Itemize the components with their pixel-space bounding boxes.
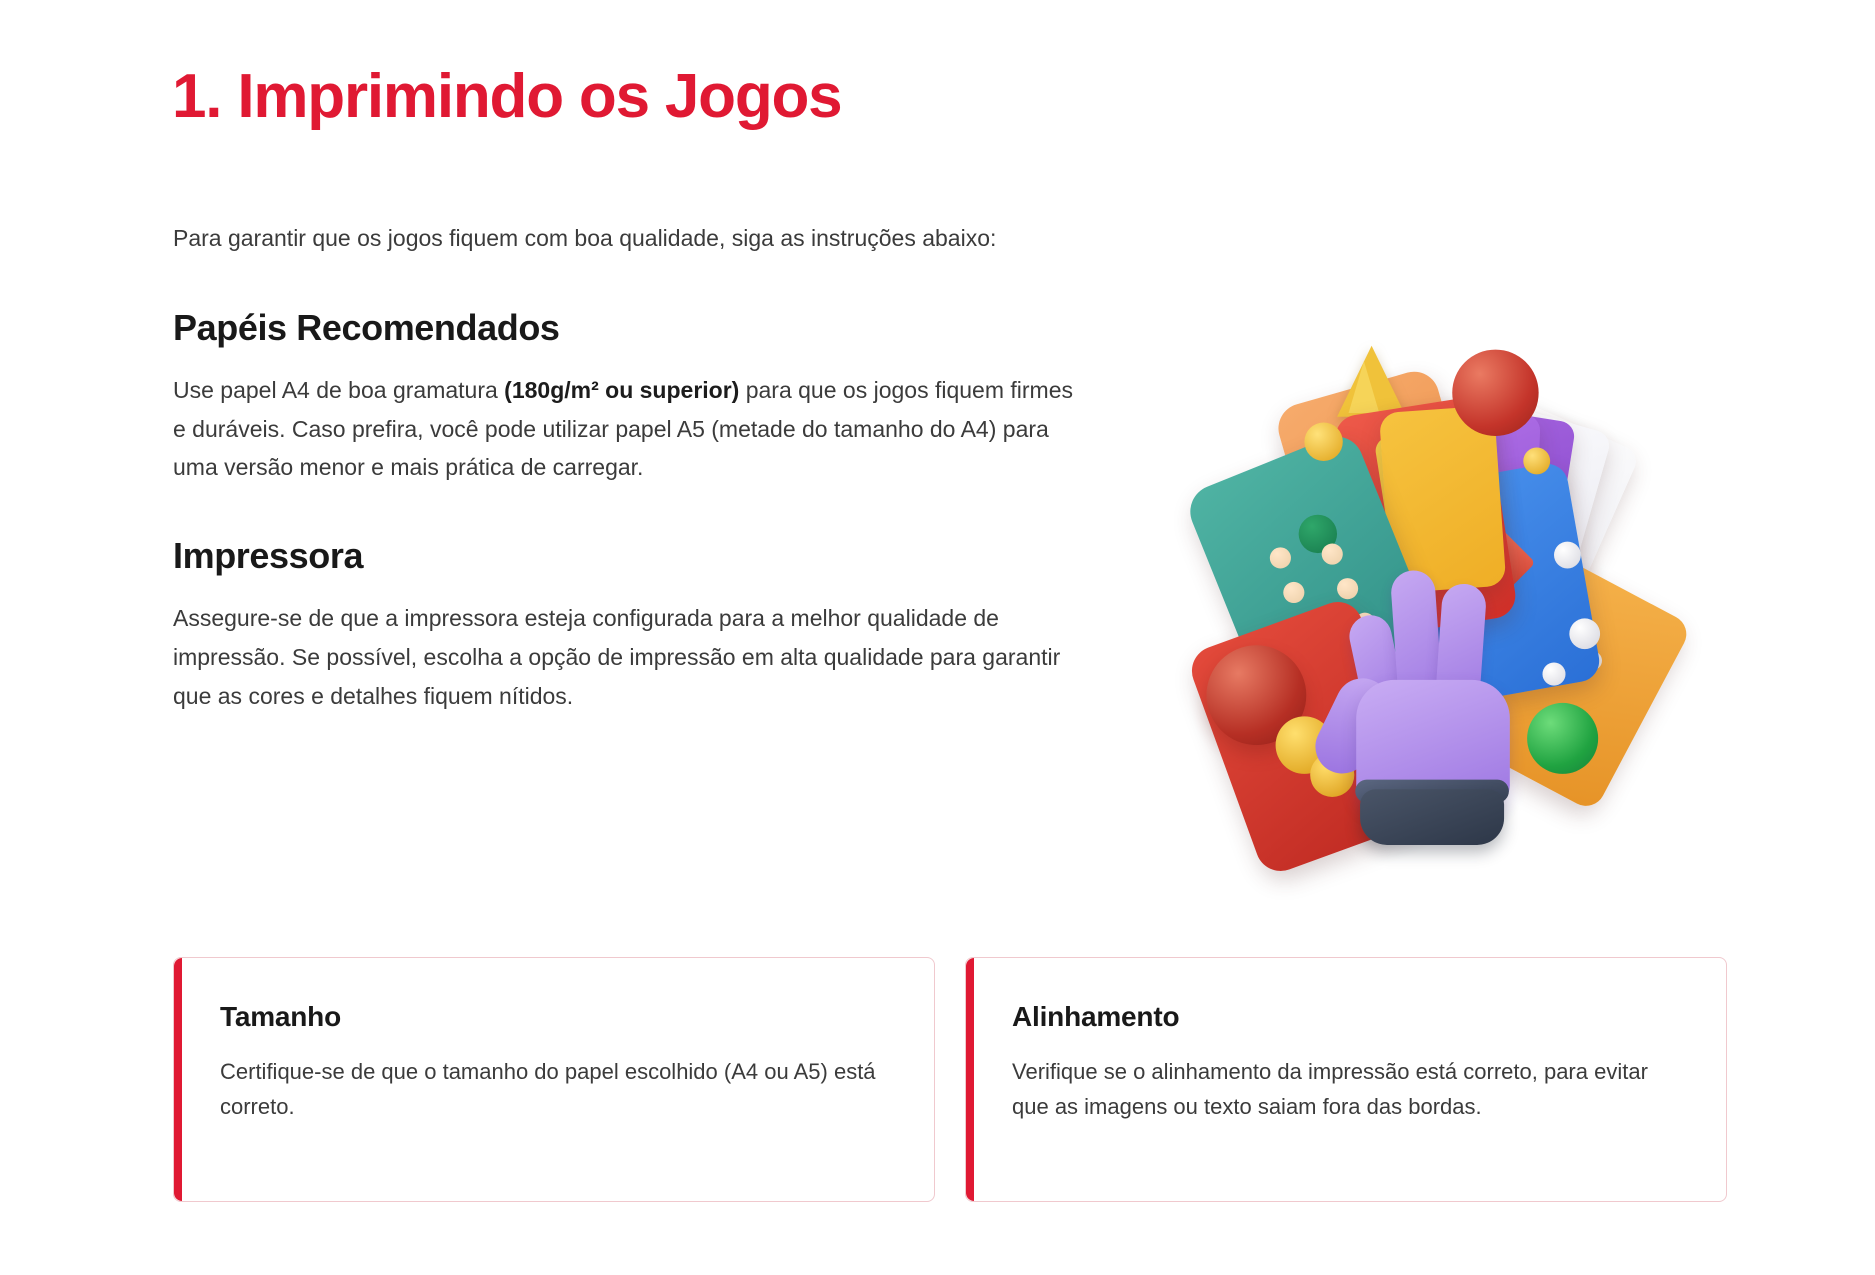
section-body-papeis: Use papel A4 de boa gramatura (180g/m² o… [173, 371, 1078, 487]
teal-dot-2 [1283, 582, 1304, 603]
sphere-white-3 [1542, 663, 1565, 686]
sphere-gold-1 [1304, 423, 1342, 461]
sphere-white-2 [1569, 618, 1600, 649]
hand-holding-cards-illustration [1160, 330, 1660, 830]
section-body-impressora: Assegure-se de que a impressora esteja c… [173, 599, 1078, 715]
body-text-bold: (180g/m² ou superior) [504, 377, 739, 403]
info-cards-row: Tamanho Certifique-se de que o tamanho d… [173, 957, 1727, 1202]
section-heading-papeis: Papéis Recomendados [173, 306, 1098, 349]
section-impressora: Impressora Assegure-se de que a impresso… [173, 534, 1098, 715]
sphere-green [1527, 703, 1598, 774]
intro-paragraph: Para garantir que os jogos fiquem com bo… [173, 221, 996, 256]
info-card-alinhamento: Alinhamento Verifique se o alinhamento d… [965, 957, 1727, 1202]
sphere-red-top [1452, 350, 1538, 436]
body-text-pre: Use papel A4 de boa gramatura [173, 377, 504, 403]
teal-dot-1 [1270, 547, 1291, 568]
page-title: 1. Imprimindo os Jogos [172, 62, 841, 131]
illustration-stage [1170, 340, 1650, 820]
document-page: 1. Imprimindo os Jogos Para garantir que… [0, 0, 1875, 1275]
content-column: Papéis Recomendados Use papel A4 de boa … [173, 306, 1098, 715]
sphere-gold-4 [1523, 448, 1550, 475]
info-card-body-tamanho: Certifique-se de que o tamanho do papel … [220, 1054, 888, 1125]
info-card-title-alinhamento: Alinhamento [1012, 1000, 1680, 1034]
info-card-title-tamanho: Tamanho [220, 1000, 888, 1034]
cuff [1360, 789, 1504, 845]
info-card-tamanho: Tamanho Certifique-se de que o tamanho d… [173, 957, 935, 1202]
section-papeis-recomendados: Papéis Recomendados Use papel A4 de boa … [173, 306, 1098, 487]
sphere-white-1 [1554, 542, 1581, 569]
cone-highlight [1349, 361, 1380, 413]
hand-3d [1314, 561, 1525, 830]
section-heading-impressora: Impressora [173, 534, 1098, 577]
info-card-body-alinhamento: Verifique se o alinhamento da impressão … [1012, 1054, 1680, 1125]
